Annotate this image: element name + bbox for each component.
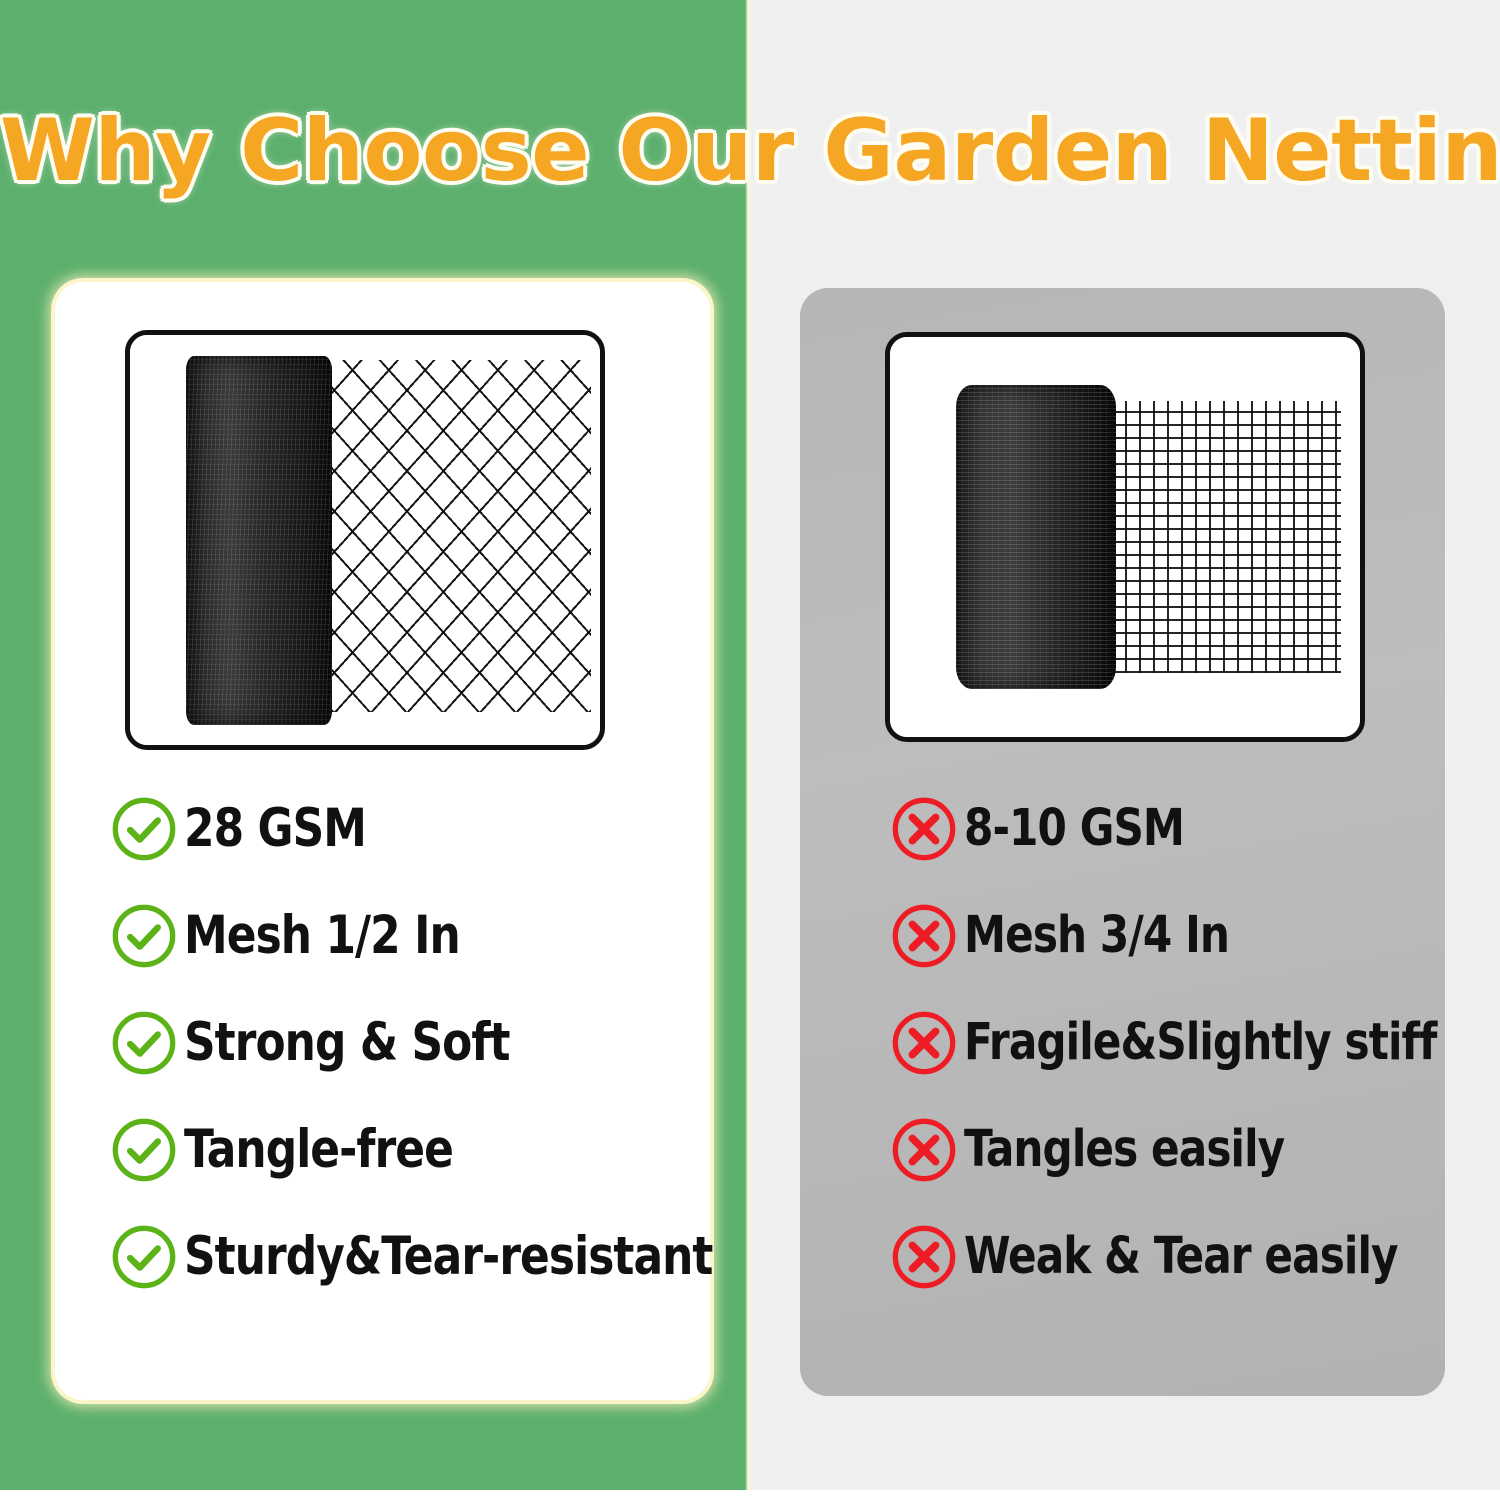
cross-circle-icon [890, 1116, 958, 1184]
check-circle-icon [110, 1009, 178, 1077]
list-item: Tangle-free [110, 1096, 730, 1203]
our-product-feature-list: 28 GSM Mesh 1/2 In Strong & Soft Tangle-… [110, 775, 730, 1310]
diamond-mesh-pattern [332, 360, 591, 713]
check-circle-icon [110, 1116, 178, 1184]
feature-label: Tangle-free [184, 1123, 453, 1176]
feature-label: Weak & Tear easily [964, 1231, 1398, 1282]
cross-circle-icon [890, 1223, 958, 1291]
list-item: Tangles easily [890, 1096, 1450, 1203]
our-product-image-frame [125, 330, 605, 750]
netting-roll-body [186, 356, 332, 725]
feature-label: Mesh 3/4 In [964, 910, 1229, 961]
feature-label: Strong & Soft [184, 1016, 510, 1069]
comparison-infographic: Why Choose Our Garden Netting? 28 GSM Me… [0, 0, 1500, 1500]
check-circle-icon [110, 795, 178, 863]
feature-label: 28 GSM [184, 802, 366, 855]
feature-label: Tangles easily [964, 1124, 1284, 1175]
competitor-feature-list: 8-10 GSM Mesh 3/4 In Fragile&Slightly st… [890, 775, 1450, 1310]
panel-divider [745, 0, 752, 1490]
cross-circle-icon [890, 795, 958, 863]
cross-circle-icon [890, 1009, 958, 1077]
list-item: 8-10 GSM [890, 775, 1450, 882]
bottom-strip [0, 1490, 1500, 1500]
list-item: Sturdy&Tear-resistant [110, 1203, 730, 1310]
check-circle-icon [110, 902, 178, 970]
feature-label: Fragile&Slightly stiff [964, 1017, 1436, 1068]
feature-label: Mesh 1/2 In [184, 909, 460, 962]
check-circle-icon [110, 1223, 178, 1291]
feature-label: Sturdy&Tear-resistant [184, 1230, 712, 1283]
competitor-product-image-frame [885, 332, 1365, 742]
list-item: Mesh 3/4 In [890, 882, 1450, 989]
list-item: Strong & Soft [110, 989, 730, 1096]
page-title: Why Choose Our Garden Netting? [0, 96, 1500, 206]
list-item: 28 GSM [110, 775, 730, 882]
garden-netting-roll-photo [130, 335, 600, 745]
list-item: Weak & Tear easily [890, 1203, 1450, 1310]
list-item: Mesh 1/2 In [110, 882, 730, 989]
square-mesh-pattern [1111, 401, 1341, 673]
cross-circle-icon [890, 902, 958, 970]
list-item: Fragile&Slightly stiff [890, 989, 1450, 1096]
feature-label: 8-10 GSM [964, 803, 1184, 854]
netting-roll-body [956, 385, 1116, 689]
competitor-netting-roll-photo [890, 337, 1360, 737]
